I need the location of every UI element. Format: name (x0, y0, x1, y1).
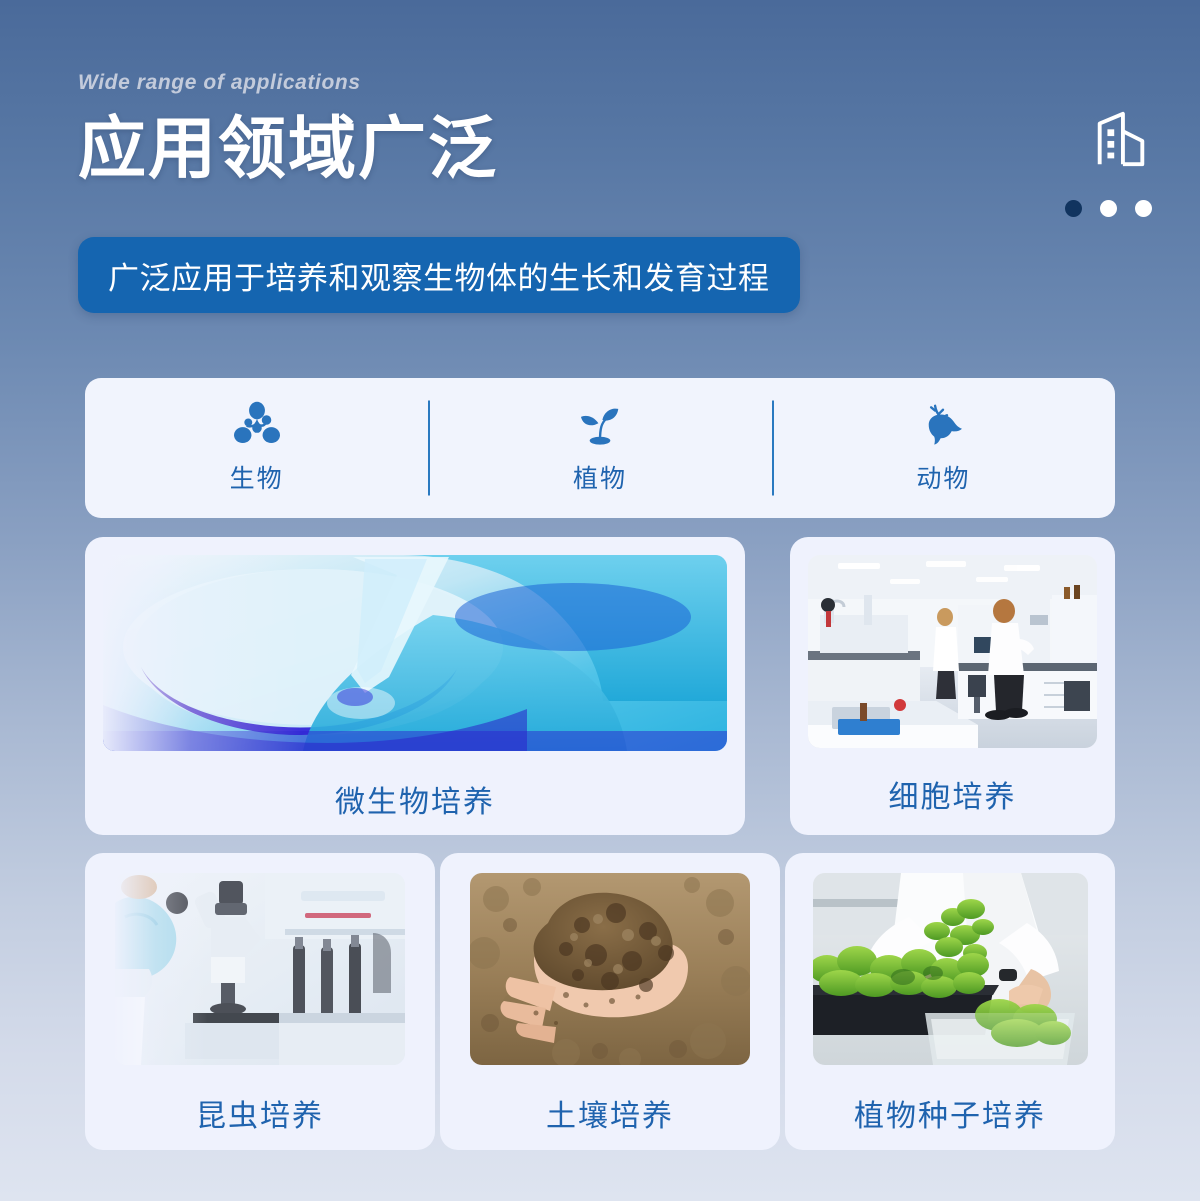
card-title-microbial-culture: 微生物培养 (335, 777, 495, 821)
card-insect-culture[interactable]: 昆虫培养 (85, 853, 435, 1150)
category-label-plant: 植物 (573, 459, 627, 495)
card-title-plant-seed-culture: 植物种子培养 (854, 1091, 1046, 1135)
header-eyebrow: Wide range of applications (78, 70, 1128, 95)
molecule-icon (231, 401, 283, 447)
carousel-dot-3[interactable] (1135, 200, 1152, 217)
subtitle-banner: 广泛应用于培养和观察生物体的生长和发育过程 (78, 237, 800, 313)
microscope-gloved-hand-photo (115, 873, 405, 1065)
deer-icon (917, 401, 969, 447)
card-plant-seed-culture[interactable]: 植物种子培养 (785, 853, 1115, 1150)
carousel-dot-2[interactable] (1100, 200, 1117, 217)
building-icon (1090, 108, 1152, 170)
page-title: 应用领域广泛 (78, 111, 1128, 187)
category-label-biology: 生物 (230, 459, 284, 495)
card-soil-culture[interactable]: 土壤培养 (440, 853, 780, 1150)
seedling-trays-photo (813, 873, 1088, 1065)
card-title-insect-culture: 昆虫培养 (196, 1091, 324, 1135)
petri-dish-pipette-photo (103, 555, 727, 751)
sprout-icon (574, 401, 626, 447)
card-title-cell-culture: 细胞培养 (889, 772, 1017, 816)
category-panel: 生物 植物 动物 (85, 378, 1115, 518)
category-item-biology[interactable]: 生物 (85, 401, 428, 495)
card-title-soil-culture: 土壤培养 (546, 1091, 674, 1135)
page-header: Wide range of applications 应用领域广泛 (78, 70, 1128, 187)
laboratory-interior-photo (808, 555, 1097, 748)
carousel-dots[interactable] (1065, 200, 1152, 217)
card-microbial-culture[interactable]: 微生物培养 (85, 537, 745, 835)
carousel-dot-1[interactable] (1065, 200, 1082, 217)
card-cell-culture[interactable]: 细胞培养 (790, 537, 1115, 835)
hand-holding-soil-photo (470, 873, 750, 1065)
subtitle-banner-text: 广泛应用于培养和观察生物体的生长和发育过程 (108, 253, 770, 298)
category-item-animal[interactable]: 动物 (772, 401, 1115, 495)
category-label-animal: 动物 (916, 459, 970, 495)
category-item-plant[interactable]: 植物 (428, 401, 771, 495)
